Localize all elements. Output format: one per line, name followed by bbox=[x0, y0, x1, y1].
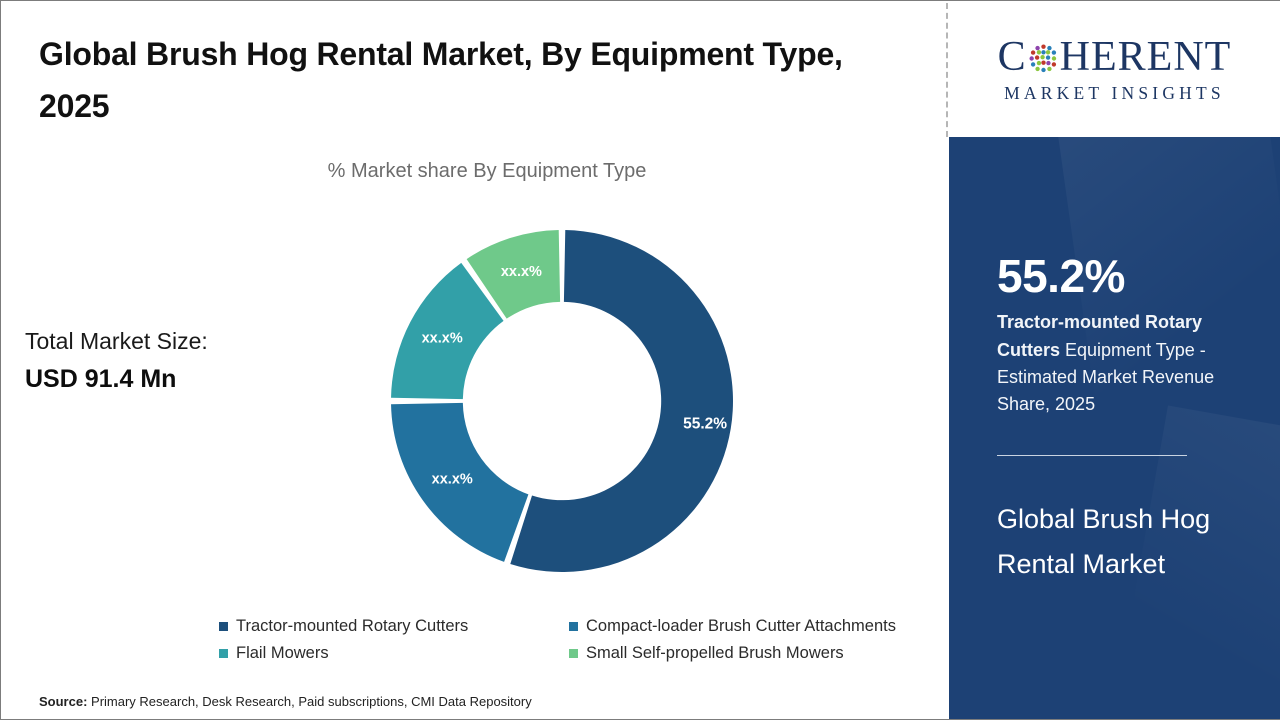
source-label: Source: bbox=[39, 694, 87, 709]
legend-row: Tractor-mounted Rotary Cutters Compact-l… bbox=[219, 617, 919, 636]
legend-label: Small Self-propelled Brush Mowers bbox=[586, 644, 844, 663]
legend-swatch-icon bbox=[569, 622, 578, 631]
donut-slice-label: xx.x% bbox=[432, 472, 473, 488]
highlight-description: Tractor-mounted Rotary Cutters Equipment… bbox=[997, 309, 1245, 418]
logo-word-after: HERENT bbox=[1060, 36, 1232, 78]
legend-swatch-icon bbox=[219, 622, 228, 631]
donut-chart: 55.2%xx.x%xx.x%xx.x% bbox=[387, 223, 737, 579]
legend-item-compact-loader-brush-cutter-attachments[interactable]: Compact-loader Brush Cutter Attachments bbox=[569, 617, 919, 636]
source-text: Primary Research, Desk Research, Paid su… bbox=[87, 694, 531, 709]
donut-slice-label: xx.x% bbox=[501, 264, 542, 280]
highlight-percentage: 55.2% bbox=[997, 252, 1247, 300]
company-logo[interactable]: C bbox=[949, 1, 1280, 137]
highlight-panel: 55.2% Tractor-mounted Rotary Cutters Equ… bbox=[949, 137, 1280, 719]
chart-subtitle: % Market share By Equipment Type bbox=[1, 160, 947, 183]
legend-item-tractor-mounted-rotary-cutters[interactable]: Tractor-mounted Rotary Cutters bbox=[219, 617, 569, 636]
legend-label: Compact-loader Brush Cutter Attachments bbox=[586, 617, 896, 636]
highlight-divider bbox=[997, 455, 1187, 456]
page-title: Global Brush Hog Rental Market, By Equip… bbox=[39, 29, 909, 133]
chart-panel: Global Brush Hog Rental Market, By Equip… bbox=[1, 1, 947, 719]
donut-slice-label: 55.2% bbox=[683, 416, 727, 433]
donut-slice-group bbox=[391, 230, 733, 572]
legend-label: Tractor-mounted Rotary Cutters bbox=[236, 617, 468, 636]
infographic-page: Global Brush Hog Rental Market, By Equip… bbox=[0, 0, 1280, 720]
legend-swatch-icon bbox=[219, 649, 228, 658]
logo-wordmark: C bbox=[998, 34, 1232, 80]
source-note: Source: Primary Research, Desk Research,… bbox=[39, 694, 532, 709]
legend-label: Flail Mowers bbox=[236, 644, 329, 663]
globe-dots-icon bbox=[1028, 43, 1059, 74]
branding-panel: C bbox=[949, 1, 1280, 719]
legend-item-small-self-propelled-brush-mowers[interactable]: Small Self-propelled Brush Mowers bbox=[569, 644, 919, 663]
total-market-size-label: Total Market Size: bbox=[25, 323, 325, 361]
legend-row: Flail Mowers Small Self-propelled Brush … bbox=[219, 644, 919, 663]
highlight-stat-block: 55.2% Tractor-mounted Rotary Cutters Equ… bbox=[997, 252, 1247, 419]
donut-slice-label: xx.x% bbox=[422, 330, 463, 346]
legend-item-flail-mowers[interactable]: Flail Mowers bbox=[219, 644, 569, 663]
logo-tagline: MARKET INSIGHTS bbox=[1004, 83, 1225, 104]
chart-legend: Tractor-mounted Rotary Cutters Compact-l… bbox=[219, 617, 919, 671]
donut-chart-svg: 55.2%xx.x%xx.x%xx.x% bbox=[387, 223, 737, 579]
logo-word-before: C bbox=[998, 36, 1027, 78]
total-market-size-value: USD 91.4 Mn bbox=[25, 361, 325, 399]
panel-divider bbox=[946, 3, 948, 137]
legend-swatch-icon bbox=[569, 649, 578, 658]
report-title: Global Brush Hog Rental Market bbox=[997, 497, 1247, 587]
total-market-size-block: Total Market Size: USD 91.4 Mn bbox=[25, 323, 325, 398]
